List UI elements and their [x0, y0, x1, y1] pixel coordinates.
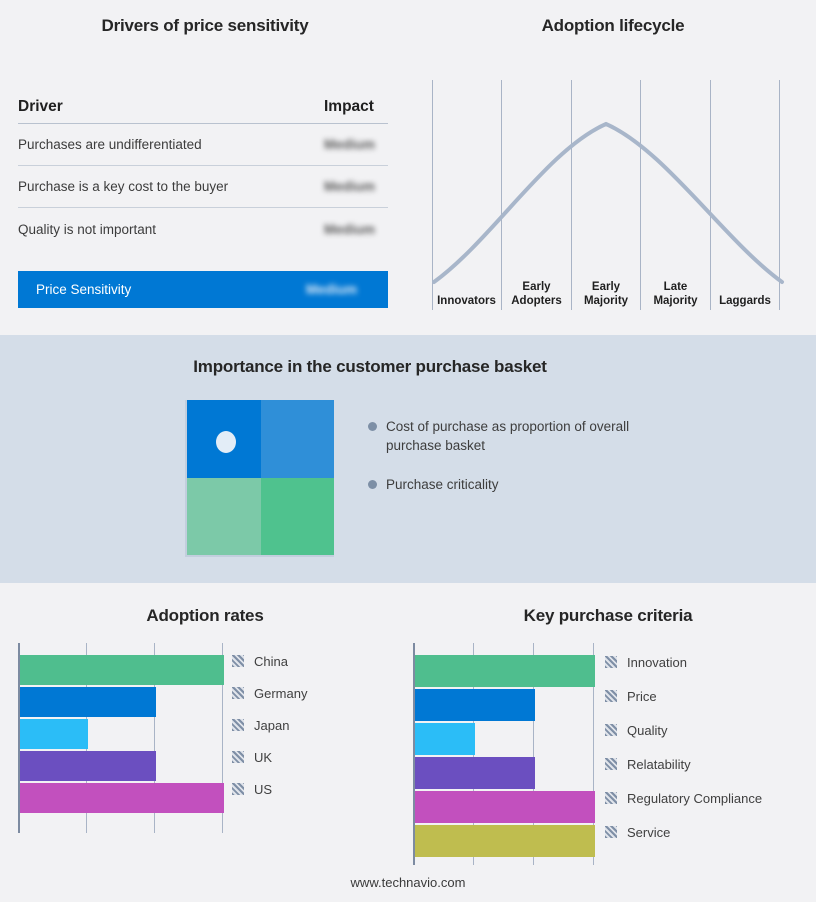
driver-label: Purchases are undifferentiated	[18, 137, 202, 152]
quadrant-position-marker	[216, 431, 236, 453]
quadrant-cell-bottom-left[interactable]	[187, 478, 261, 556]
hatched-swatch-icon	[232, 751, 244, 763]
legend-item[interactable]: Japan	[232, 709, 307, 741]
legend-item[interactable]: Innovation	[605, 645, 762, 679]
quadrant-cell-top-right[interactable]	[261, 400, 335, 478]
quadrant-chart	[185, 400, 334, 557]
table-row[interactable]: Quality is not important Medium	[18, 208, 388, 250]
lifecycle-stage-line1: Innovators	[437, 295, 496, 307]
legend-label: Germany	[254, 686, 307, 701]
lifecycle-stage-line1: Late	[664, 281, 688, 293]
legend-item[interactable]: Quality	[605, 713, 762, 747]
legend-label: UK	[254, 750, 272, 765]
footer-url: www.technavio.com	[0, 875, 816, 890]
adoption-lifecycle-title: Adoption lifecycle	[410, 16, 816, 36]
hatched-swatch-icon	[232, 655, 244, 667]
purchase-basket-legend: Cost of purchase as proportion of overal…	[368, 417, 668, 514]
lifecycle-stage-label: Laggards	[711, 294, 779, 308]
impact-value: Medium	[324, 222, 388, 237]
impact-value: Medium	[324, 179, 388, 194]
adoption-lifecycle-plot: Innovators Early Adopters Early Majority…	[432, 80, 790, 310]
quadrant-grid	[187, 400, 334, 555]
adoption-rates-panel: Adoption rates ChinaGermanyJapanUKUS	[0, 583, 410, 902]
legend-label: Japan	[254, 718, 289, 733]
chart-bar[interactable]	[415, 791, 595, 823]
legend-item[interactable]: Relatability	[605, 747, 762, 781]
chart-bar[interactable]	[415, 689, 535, 721]
lifecycle-stage-line1: Early	[522, 281, 550, 293]
bullet-icon	[368, 422, 377, 431]
lifecycle-stage-label: Early Adopters	[502, 280, 571, 308]
hatched-swatch-icon	[605, 826, 617, 838]
purchase-basket-band: Importance in the customer purchase bask…	[0, 335, 816, 583]
legend-label: Relatability	[627, 757, 691, 772]
key-purchase-criteria-legend: InnovationPriceQualityRelatabilityRegula…	[605, 645, 762, 849]
chart-bar[interactable]	[415, 825, 595, 857]
lifecycle-stage-line1: Laggards	[719, 295, 771, 307]
legend-label: Regulatory Compliance	[627, 791, 762, 806]
key-purchase-criteria-title: Key purchase criteria	[400, 606, 816, 626]
hatched-swatch-icon	[232, 687, 244, 699]
bullet-icon	[368, 480, 377, 489]
bell-curve-icon	[432, 80, 790, 310]
highlight-label: Price Sensitivity	[36, 282, 131, 297]
legend-label: China	[254, 654, 288, 669]
legend-label: Purchase criticality	[386, 475, 499, 494]
legend-label: Innovation	[627, 655, 687, 670]
legend-label: Price	[627, 689, 657, 704]
column-header-impact: Impact	[324, 98, 388, 116]
hatched-swatch-icon	[605, 656, 617, 668]
lifecycle-stage-line2: Majority	[584, 295, 628, 307]
hatched-swatch-icon	[605, 792, 617, 804]
purchase-basket-title: Importance in the customer purchase bask…	[0, 357, 740, 377]
top-section: Drivers of price sensitivity Driver Impa…	[0, 0, 816, 335]
adoption-rates-title: Adoption rates	[0, 606, 410, 626]
table-header-row: Driver Impact	[18, 90, 388, 124]
legend-item[interactable]: UK	[232, 741, 307, 773]
table-row[interactable]: Purchases are undifferentiated Medium	[18, 124, 388, 166]
chart-bar[interactable]	[415, 655, 595, 687]
legend-item: Purchase criticality	[368, 475, 668, 494]
legend-item[interactable]: Regulatory Compliance	[605, 781, 762, 815]
legend-item[interactable]: Germany	[232, 677, 307, 709]
column-header-driver: Driver	[18, 98, 63, 116]
hatched-swatch-icon	[232, 719, 244, 731]
driver-label: Quality is not important	[18, 222, 156, 237]
chart-bar[interactable]	[20, 687, 156, 717]
lifecycle-stage-label: Early Majority	[572, 280, 640, 308]
driver-label: Purchase is a key cost to the buyer	[18, 179, 228, 194]
legend-item[interactable]: US	[232, 773, 307, 805]
lifecycle-stage-line2: Adopters	[511, 295, 561, 307]
key-purchase-criteria-panel: Key purchase criteria InnovationPriceQua…	[400, 583, 816, 902]
chart-bar[interactable]	[20, 719, 88, 749]
adoption-rates-legend: ChinaGermanyJapanUKUS	[232, 645, 307, 805]
lifecycle-stage-line2: Majority	[653, 295, 697, 307]
hatched-swatch-icon	[605, 690, 617, 702]
drivers-title: Drivers of price sensitivity	[0, 16, 410, 36]
chart-bar[interactable]	[415, 757, 535, 789]
bottom-section: Adoption rates ChinaGermanyJapanUKUS Key…	[0, 583, 816, 902]
adoption-rates-plot	[18, 643, 222, 833]
legend-label: US	[254, 782, 272, 797]
hatched-swatch-icon	[605, 724, 617, 736]
legend-label: Quality	[627, 723, 667, 738]
hatched-swatch-icon	[605, 758, 617, 770]
hatched-swatch-icon	[232, 783, 244, 795]
lifecycle-stage-line1: Early	[592, 281, 620, 293]
drivers-table: Driver Impact Purchases are undifferenti…	[18, 90, 388, 250]
adoption-lifecycle-panel: Adoption lifecycle Innovators Early Adop…	[410, 0, 816, 335]
price-sensitivity-highlight-row[interactable]: Price Sensitivity Medium	[18, 271, 388, 308]
highlight-impact-value: Medium	[306, 282, 370, 297]
key-purchase-criteria-plot	[413, 643, 593, 865]
impact-value: Medium	[324, 137, 388, 152]
legend-item[interactable]: Price	[605, 679, 762, 713]
drivers-panel: Drivers of price sensitivity Driver Impa…	[0, 0, 410, 335]
lifecycle-stage-label: Late Majority	[641, 280, 710, 308]
chart-bar[interactable]	[415, 723, 475, 755]
legend-item: Cost of purchase as proportion of overal…	[368, 417, 668, 455]
chart-bar[interactable]	[20, 783, 224, 813]
chart-bar[interactable]	[20, 751, 156, 781]
legend-label: Service	[627, 825, 670, 840]
chart-bar[interactable]	[20, 655, 224, 685]
legend-item[interactable]: China	[232, 645, 307, 677]
table-row[interactable]: Purchase is a key cost to the buyer Medi…	[18, 166, 388, 208]
lifecycle-stage-label: Innovators	[432, 294, 501, 308]
legend-item[interactable]: Service	[605, 815, 762, 849]
quadrant-cell-bottom-right[interactable]	[261, 478, 335, 556]
legend-label: Cost of purchase as proportion of overal…	[386, 417, 646, 455]
